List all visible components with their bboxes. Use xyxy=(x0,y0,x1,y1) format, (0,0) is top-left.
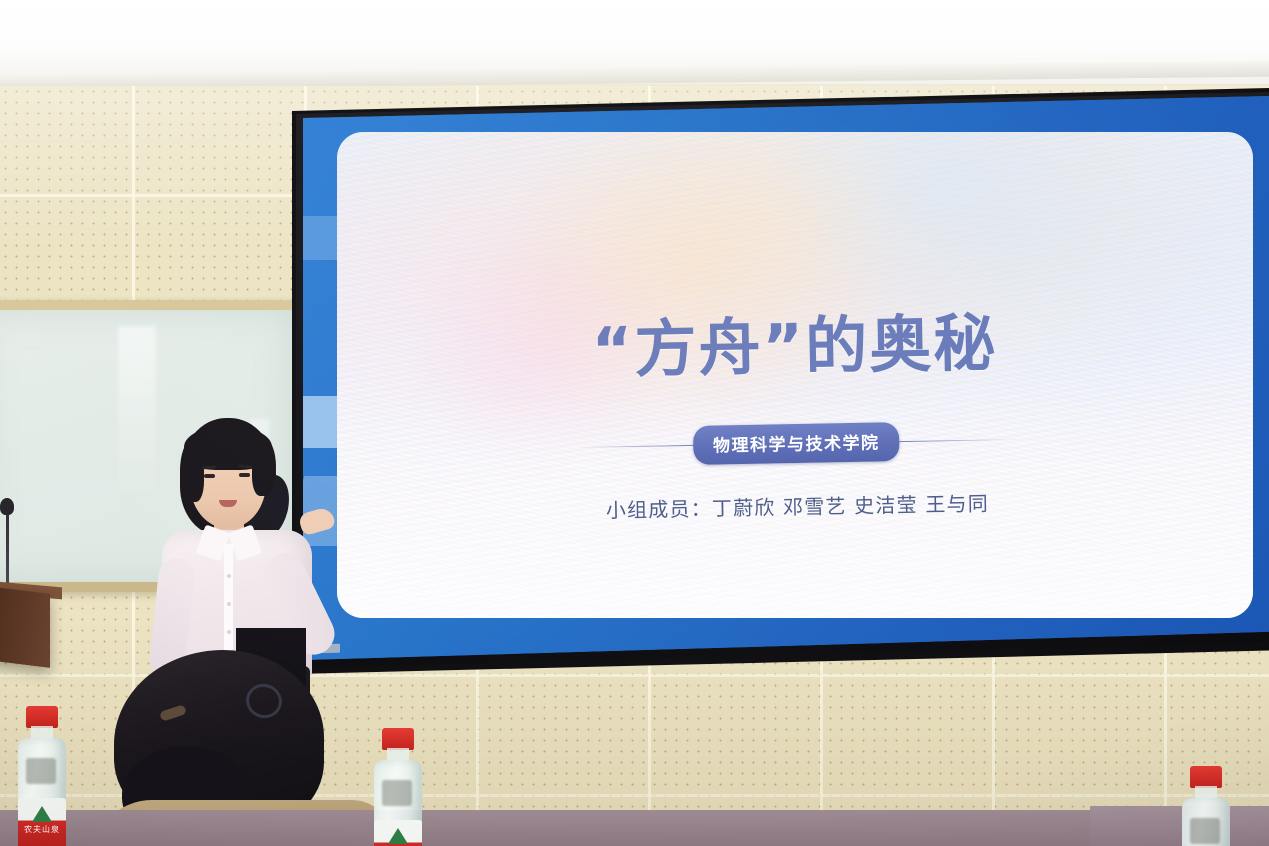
slide-title: “方舟”的奥秘 xyxy=(591,292,998,389)
bottle-contents-shadow xyxy=(382,780,412,806)
slide-department-row: 物理科学与技术学院 xyxy=(576,420,1017,467)
presenter-hair-side-left xyxy=(180,440,204,502)
slide-department-badge: 物理科学与技术学院 xyxy=(693,422,900,465)
mountain-logo-icon xyxy=(32,806,52,822)
bottle-contents-shadow xyxy=(1190,818,1220,844)
projection-screen[interactable]: “方舟”的奥秘 物理科学与技术学院 小组成员：丁蔚欣 邓雪艺 史洁莹 王与同 xyxy=(303,96,1269,660)
presenter-hair-side-right xyxy=(252,438,276,496)
lectern xyxy=(0,586,50,668)
microphone-stand xyxy=(6,508,9,592)
presenter-button xyxy=(227,630,231,634)
microphone-icon xyxy=(0,498,14,515)
bottle-contents-shadow xyxy=(26,758,56,784)
presentation-photo-scene: “方舟”的奥秘 物理科学与技术学院 小组成员：丁蔚欣 邓雪艺 史洁莹 王与同 xyxy=(0,0,1269,846)
presenter-hand-gesturing xyxy=(298,506,337,537)
mountain-logo-icon xyxy=(388,828,408,844)
bottle-cap xyxy=(26,706,58,728)
divider-rule-left xyxy=(576,445,699,449)
divider-rule-right xyxy=(893,439,1016,443)
bottle-cap xyxy=(1190,766,1222,788)
audience-table-right xyxy=(1090,806,1269,846)
presenter-eye-right xyxy=(239,473,250,477)
bottle-brand-text: 农夫山泉 xyxy=(18,824,66,835)
bottle-cap xyxy=(382,728,414,750)
slide-text-block: “方舟”的奥秘 物理科学与技术学院 小组成员：丁蔚欣 邓雪艺 史洁莹 王与同 xyxy=(337,132,1253,618)
presenter-button xyxy=(227,602,231,606)
slide-content-card: “方舟”的奥秘 物理科学与技术学院 小组成员：丁蔚欣 邓雪艺 史洁莹 王与同 xyxy=(337,132,1253,618)
audience-table xyxy=(0,810,1269,846)
presenter-eye-left xyxy=(204,474,215,478)
presenter-button xyxy=(227,574,231,578)
slide-members-line: 小组成员：丁蔚欣 邓雪艺 史洁莹 王与同 xyxy=(606,487,990,523)
